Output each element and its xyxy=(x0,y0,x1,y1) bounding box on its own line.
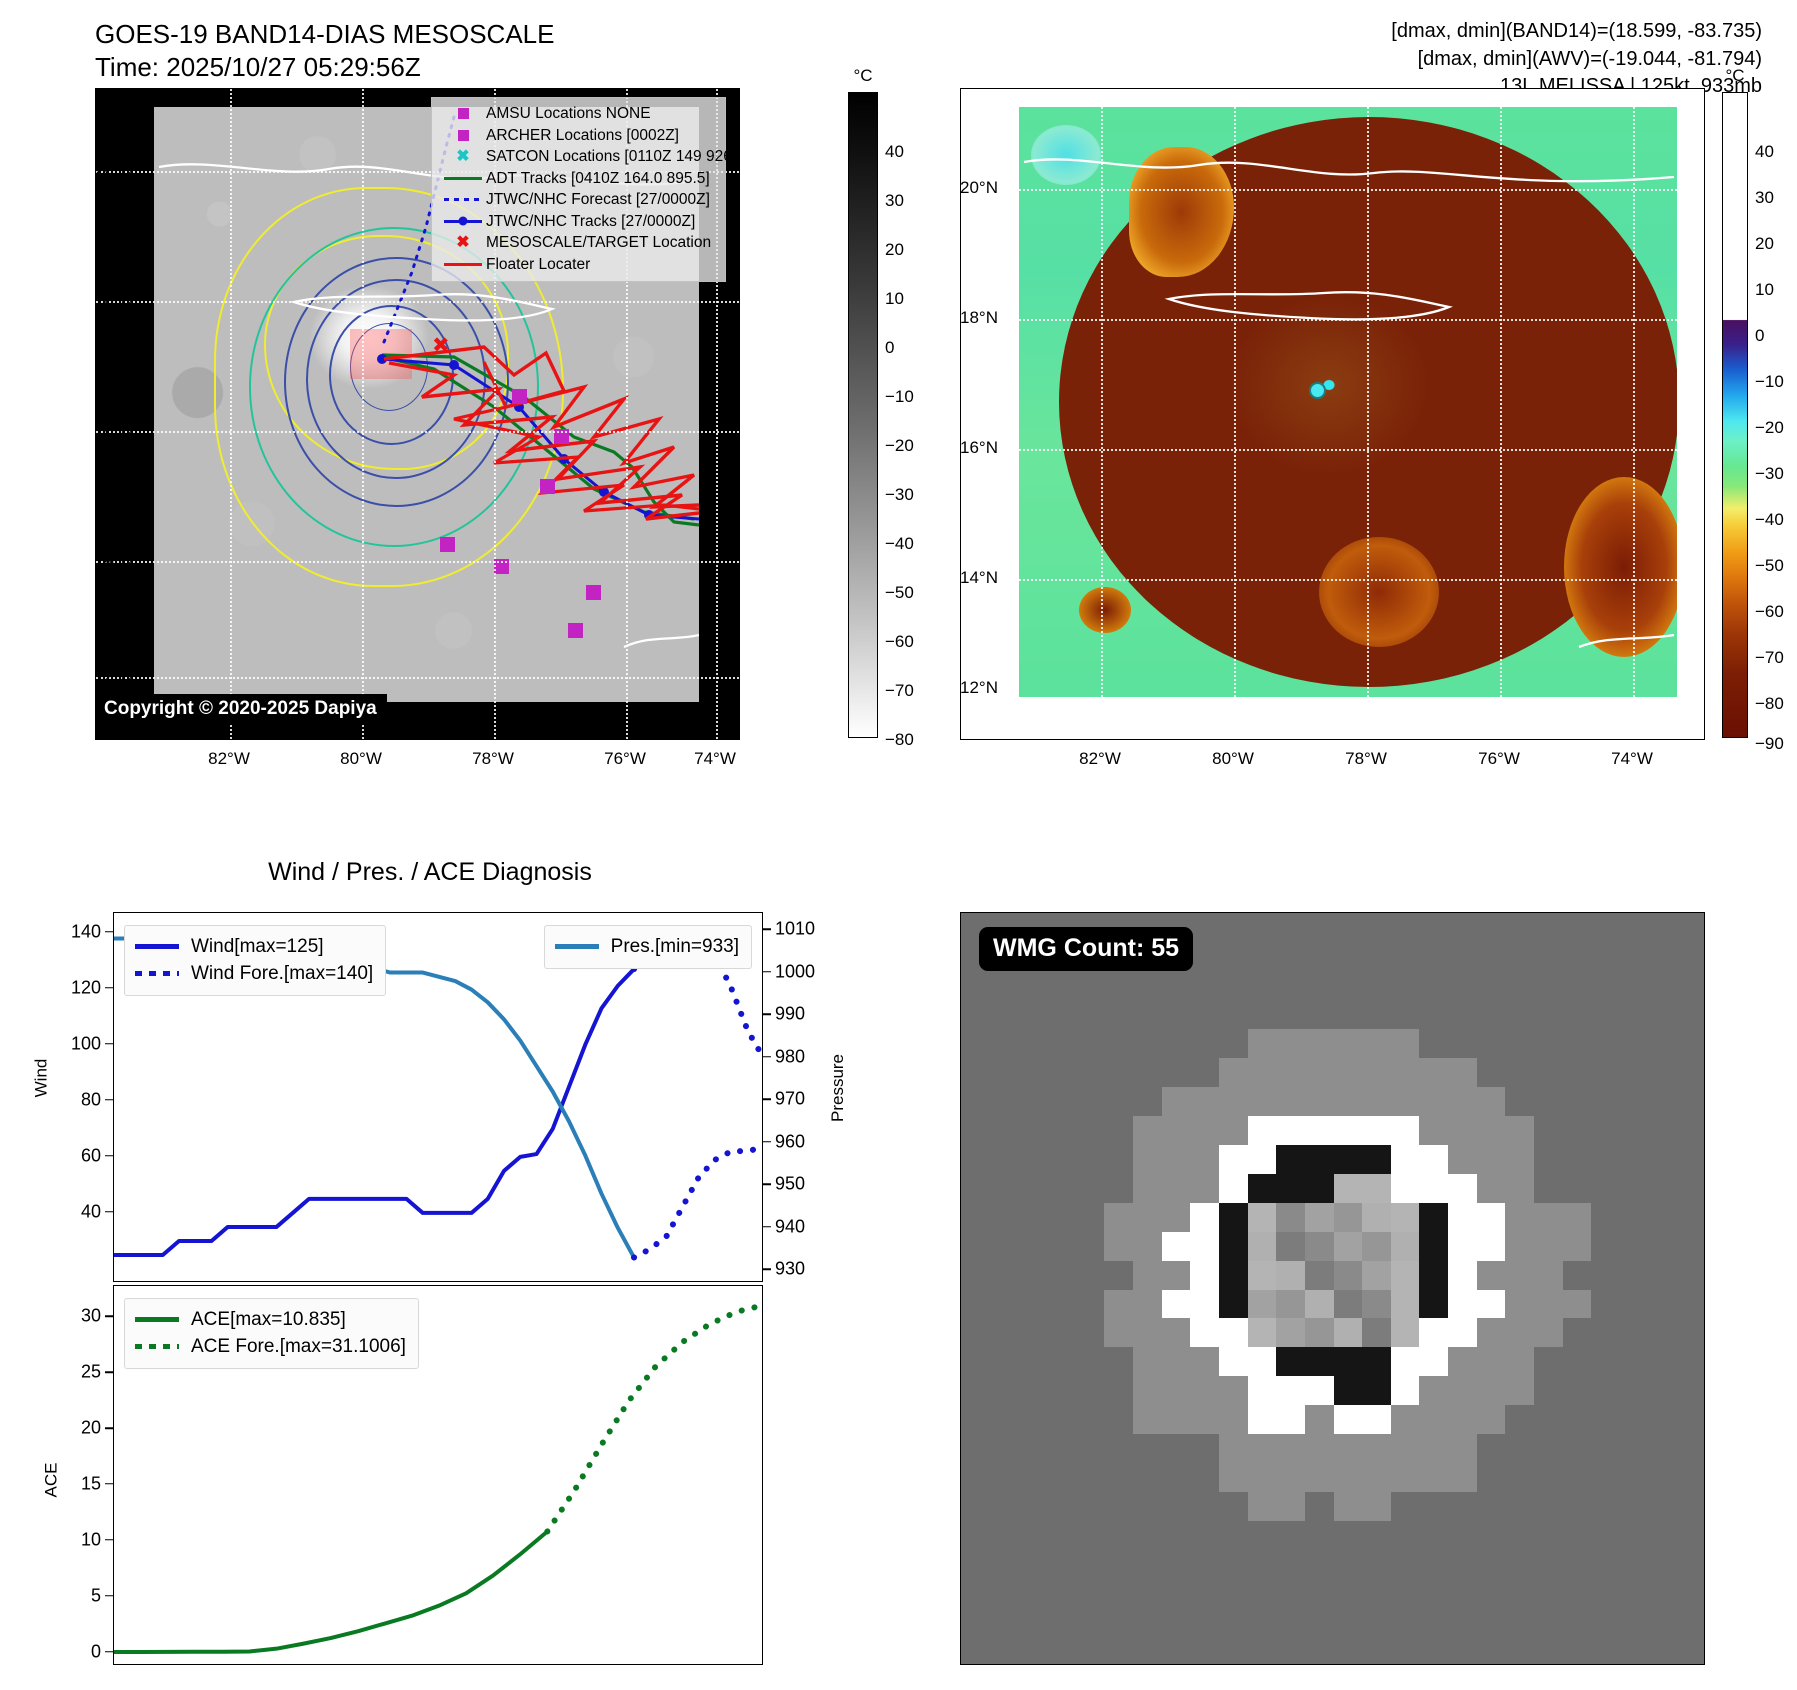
wmg-cell xyxy=(1505,1463,1534,1493)
wmg-cell xyxy=(1419,1087,1448,1117)
wmg-cell xyxy=(1649,1145,1678,1175)
dmax-band14-text: [dmax, dmin](BAND14)=(18.599, -83.735) xyxy=(1391,18,1762,46)
wmg-cell xyxy=(1534,1405,1563,1435)
wv-cbar-tick: −60 xyxy=(1755,602,1784,622)
axis-tick-label: 120 xyxy=(0,977,101,998)
wmg-cell xyxy=(1334,1029,1363,1059)
wmg-panel[interactable]: WMG Count: 55 xyxy=(960,912,1705,1665)
wmg-cell xyxy=(1448,1116,1477,1146)
wmg-cell xyxy=(1190,1376,1219,1406)
wmg-cell xyxy=(1419,1058,1448,1088)
wmg-cell xyxy=(1305,913,1334,943)
wmg-cell xyxy=(1076,1434,1105,1464)
legend-item-adt-tracks[interactable]: ADT Tracks [0410Z 164.0 895.5] xyxy=(440,168,717,190)
wmg-cell xyxy=(1248,1376,1277,1406)
wmg-cell xyxy=(1133,1434,1162,1464)
legend-item-wind-forecast[interactable]: Wind Fore.[max=140] xyxy=(135,960,373,987)
wmg-cell xyxy=(1047,1087,1076,1117)
lon-tick-74W: 74°W xyxy=(694,749,736,769)
wmg-cell xyxy=(1047,1579,1076,1609)
wmg-cell xyxy=(1591,1550,1620,1580)
wmg-cell xyxy=(1362,1116,1391,1146)
wmg-cell xyxy=(1104,1116,1133,1146)
ace-chart[interactable]: ACE[max=10.835] ACE Fore.[max=31.1006] xyxy=(113,1285,763,1665)
wmg-cell xyxy=(1133,1637,1162,1665)
wmg-cell xyxy=(990,1318,1019,1348)
wmg-cell xyxy=(1133,1318,1162,1348)
wmg-cell xyxy=(1649,1318,1678,1348)
wmg-cell xyxy=(961,1347,990,1377)
wmg-cell xyxy=(1591,1029,1620,1059)
wmg-cell xyxy=(1649,1087,1678,1117)
ir-image-axes[interactable]: ✖ AMSU Locations NONE AR xyxy=(95,88,740,740)
wmg-cell xyxy=(1620,1492,1649,1522)
wmg-cell xyxy=(1162,1434,1191,1464)
wmg-cell xyxy=(1219,1232,1248,1262)
wmg-cell xyxy=(961,971,990,1001)
legend-item-archer[interactable]: ARCHER Locations [0002Z] xyxy=(440,125,717,147)
legend-label: Wind Fore.[max=140] xyxy=(191,964,373,984)
wmg-cell xyxy=(1076,1000,1105,1030)
wmg-cell xyxy=(1505,1029,1534,1059)
wmg-cell xyxy=(1276,1492,1305,1522)
wmg-cell xyxy=(1018,1145,1047,1175)
wmg-cell xyxy=(961,1637,990,1665)
wmg-cell xyxy=(1305,1290,1334,1320)
wmg-cell xyxy=(1391,1521,1420,1551)
legend-item-ace-forecast[interactable]: ACE Fore.[max=31.1006] xyxy=(135,1333,406,1360)
wmg-cell xyxy=(1018,971,1047,1001)
wmg-cell xyxy=(1419,1579,1448,1609)
wmg-cell xyxy=(1276,1261,1305,1291)
wmg-cell xyxy=(1448,1232,1477,1262)
wmg-cell xyxy=(1649,1405,1678,1435)
wmg-cell xyxy=(1276,1000,1305,1030)
wmg-cell xyxy=(1104,1261,1133,1291)
wmg-cell xyxy=(1219,1579,1248,1609)
wmg-cell xyxy=(1362,1434,1391,1464)
wmg-cell xyxy=(1505,1000,1534,1030)
wmg-cell xyxy=(1334,1261,1363,1291)
wmg-cell xyxy=(1419,1521,1448,1551)
wmg-cell xyxy=(1362,1261,1391,1291)
wmg-cell xyxy=(1391,1116,1420,1146)
wmg-cell xyxy=(1419,1116,1448,1146)
axis-tick-mark xyxy=(763,1141,771,1143)
legend-label: JTWC/NHC Tracks [27/0000Z] xyxy=(486,214,695,230)
wmg-cell xyxy=(1076,1579,1105,1609)
wv-cbar-tick: −90 xyxy=(1755,734,1784,754)
wmg-cell xyxy=(1591,1261,1620,1291)
wv-cbar-tick: −70 xyxy=(1755,648,1784,668)
wmg-cell xyxy=(1620,1087,1649,1117)
wmg-cell xyxy=(1477,1145,1506,1175)
wmg-cell xyxy=(1362,1000,1391,1030)
legend-item-ace[interactable]: ACE[max=10.835] xyxy=(135,1306,406,1333)
wmg-cell xyxy=(1362,1608,1391,1638)
wmg-cell xyxy=(1591,1174,1620,1204)
wmg-cell xyxy=(1076,1029,1105,1059)
wmg-cell xyxy=(1334,1521,1363,1551)
wmg-cell xyxy=(1047,1261,1076,1291)
wmg-cell xyxy=(1133,1000,1162,1030)
wmg-cell xyxy=(1362,1058,1391,1088)
wmg-cell xyxy=(1563,1203,1592,1233)
wv-panel: 20°N 18°N 16°N 14°N 12°N 82°W 80°W 78°W … xyxy=(960,88,1605,740)
wmg-cell xyxy=(1477,1000,1506,1030)
wv-cbar-tick: −80 xyxy=(1755,694,1784,714)
wmg-cell xyxy=(1534,1318,1563,1348)
wmg-cell xyxy=(1649,1116,1678,1146)
wmg-cell xyxy=(1419,1376,1448,1406)
wv-lon-tick-80W: 80°W xyxy=(1212,749,1254,769)
ace-forecast-dotted-icon xyxy=(135,1344,191,1349)
wmg-cell xyxy=(1505,1521,1534,1551)
ir-colorbar: °C 40 30 20 10 0 −10 −20 −30 −40 −50 −60… xyxy=(848,92,878,738)
wmg-cell xyxy=(1505,1290,1534,1320)
wmg-cell xyxy=(1305,1434,1334,1464)
wmg-cell xyxy=(1162,1116,1191,1146)
wmg-cell xyxy=(1477,1290,1506,1320)
wmg-cell xyxy=(1563,1318,1592,1348)
legend-label: ACE[max=10.835] xyxy=(191,1310,346,1330)
wmg-cell xyxy=(1104,1290,1133,1320)
wmg-cell xyxy=(1018,1608,1047,1638)
lon-tick-78W: 78°W xyxy=(472,749,514,769)
ace-chart-legend: ACE[max=10.835] ACE Fore.[max=31.1006] xyxy=(124,1298,419,1369)
wmg-cell xyxy=(1190,1318,1219,1348)
wmg-cell xyxy=(990,1174,1019,1204)
legend-item-jtwc-tracks[interactable]: JTWC/NHC Tracks [27/0000Z] xyxy=(440,211,717,233)
wmg-cell xyxy=(990,1637,1019,1665)
wmg-cell xyxy=(1448,1492,1477,1522)
gridline-80W xyxy=(362,89,364,739)
wmg-cell xyxy=(1104,1608,1133,1638)
wmg-cell xyxy=(1477,1376,1506,1406)
wmg-cell xyxy=(1104,1521,1133,1551)
wmg-cell xyxy=(1477,1405,1506,1435)
wv-coastline-overlay xyxy=(1019,107,1677,697)
wmg-cell xyxy=(1505,1579,1534,1609)
wmg-cell xyxy=(1391,1608,1420,1638)
axis-tick-label: 980 xyxy=(775,1046,805,1067)
wmg-cell xyxy=(1305,1492,1334,1522)
wmg-cell xyxy=(1419,1608,1448,1638)
wmg-cell xyxy=(1620,1347,1649,1377)
wmg-cell xyxy=(1677,1579,1705,1609)
wmg-cell xyxy=(961,1058,990,1088)
wmg-cell xyxy=(1219,1637,1248,1665)
wmg-cell xyxy=(1591,1521,1620,1551)
floater-line-icon xyxy=(440,263,486,266)
wmg-cell xyxy=(1162,1261,1191,1291)
wmg-cell xyxy=(1477,942,1506,972)
wmg-cell xyxy=(1305,1029,1334,1059)
wv-gridline-80W xyxy=(1234,107,1236,697)
wmg-cell xyxy=(1505,1232,1534,1262)
wind-chart-legend: Wind[max=125] Wind Fore.[max=140] xyxy=(124,925,386,996)
wmg-cell xyxy=(1334,1492,1363,1522)
wmg-cell xyxy=(1563,1261,1592,1291)
wmg-cell xyxy=(1104,1232,1133,1262)
wmg-cell xyxy=(1219,1376,1248,1406)
wmg-cell xyxy=(1362,1174,1391,1204)
wmg-cell xyxy=(1677,1405,1705,1435)
wmg-cell xyxy=(961,1405,990,1435)
wmg-cell xyxy=(1477,971,1506,1001)
wmg-cell xyxy=(1677,1232,1705,1262)
wmg-cell xyxy=(1534,1608,1563,1638)
gridline-14N xyxy=(96,561,739,563)
wmg-cell xyxy=(1076,1376,1105,1406)
wmg-cell xyxy=(1305,1000,1334,1030)
wmg-cell xyxy=(1391,913,1420,943)
wmg-cell xyxy=(1677,913,1705,943)
ir-cbar-tick: −40 xyxy=(885,534,914,554)
wmg-cell xyxy=(1248,1000,1277,1030)
wmg-cell xyxy=(1591,1637,1620,1665)
wmg-cell xyxy=(1104,1579,1133,1609)
axis-tick-label: 140 xyxy=(0,921,101,942)
wmg-cell xyxy=(1419,1463,1448,1493)
jtwc-tracks-line-icon xyxy=(440,220,486,223)
wmg-cell xyxy=(1448,913,1477,943)
wmg-cell xyxy=(1505,1376,1534,1406)
wmg-cell xyxy=(1047,1203,1076,1233)
wmg-cell xyxy=(1018,1174,1047,1204)
wmg-cell xyxy=(1248,942,1277,972)
wmg-cell xyxy=(1276,1203,1305,1233)
wmg-cell xyxy=(1248,1347,1277,1377)
wmg-cell xyxy=(1591,1232,1620,1262)
wmg-cell xyxy=(1591,1347,1620,1377)
wv-satellite-image xyxy=(1019,107,1677,697)
wmg-cell xyxy=(1104,1405,1133,1435)
wmg-cell xyxy=(1162,1058,1191,1088)
wmg-cell xyxy=(1248,1318,1277,1348)
wmg-cell xyxy=(1018,1434,1047,1464)
wmg-cell xyxy=(1534,1376,1563,1406)
wmg-cell xyxy=(1448,971,1477,1001)
wmg-cell xyxy=(1219,1318,1248,1348)
wind-pressure-chart[interactable]: Wind[max=125] Wind Fore.[max=140] Pres.[… xyxy=(113,912,763,1282)
wmg-cell xyxy=(1505,1087,1534,1117)
wmg-cell xyxy=(1649,1029,1678,1059)
axis-tick-label: 60 xyxy=(0,1145,101,1166)
wmg-cell xyxy=(1649,1579,1678,1609)
legend-item-pressure[interactable]: Pres.[min=933] xyxy=(555,933,739,960)
wmg-cell xyxy=(1362,1550,1391,1580)
axis-tick-mark xyxy=(105,1483,113,1485)
ir-map-legend: AMSU Locations NONE ARCHER Locations [00… xyxy=(431,97,726,282)
wmg-cell xyxy=(961,1261,990,1291)
wmg-cell xyxy=(1477,1174,1506,1204)
wmg-cell xyxy=(1047,971,1076,1001)
wv-cbar-tick: 0 xyxy=(1755,326,1764,346)
wmg-cell xyxy=(1448,1000,1477,1030)
wmg-cell xyxy=(1104,1145,1133,1175)
wmg-cell xyxy=(1190,1492,1219,1522)
wmg-cell xyxy=(1477,1087,1506,1117)
wmg-cell xyxy=(961,1290,990,1320)
legend-item-amsu[interactable]: AMSU Locations NONE xyxy=(440,103,717,125)
wmg-cell xyxy=(1334,1116,1363,1146)
wmg-cell xyxy=(1477,1550,1506,1580)
wmg-cell xyxy=(1419,1174,1448,1204)
wmg-cell xyxy=(1133,1261,1162,1291)
wmg-cell xyxy=(1104,1318,1133,1348)
wmg-cell xyxy=(1591,1405,1620,1435)
ace-line-icon xyxy=(135,1317,191,1322)
wmg-cell xyxy=(1677,1318,1705,1348)
legend-item-jtwc-forecast[interactable]: JTWC/NHC Forecast [27/0000Z] xyxy=(440,189,717,211)
wmg-cell xyxy=(990,1261,1019,1291)
wmg-cell xyxy=(1248,971,1277,1001)
wmg-cell xyxy=(1305,942,1334,972)
wmg-cell xyxy=(1391,1434,1420,1464)
archer-square-icon xyxy=(440,130,486,141)
wmg-cell xyxy=(1448,1318,1477,1348)
wmg-cell xyxy=(1104,1347,1133,1377)
wmg-cell xyxy=(1076,1637,1105,1665)
wmg-cell xyxy=(990,1145,1019,1175)
wmg-cell xyxy=(1133,1579,1162,1609)
wmg-cell xyxy=(1076,1058,1105,1088)
wmg-cell xyxy=(990,1376,1019,1406)
axis-tick-label: 940 xyxy=(775,1216,805,1237)
wmg-cell xyxy=(1305,1116,1334,1146)
wmg-cell xyxy=(1305,1087,1334,1117)
wmg-cell xyxy=(1563,1434,1592,1464)
wmg-cell xyxy=(1104,1637,1133,1665)
wmg-cell xyxy=(990,1000,1019,1030)
wmg-cell xyxy=(1563,1463,1592,1493)
wmg-cell xyxy=(1276,1463,1305,1493)
wmg-cell xyxy=(1591,1087,1620,1117)
wmg-cell xyxy=(1276,1376,1305,1406)
axis-tick-mark xyxy=(763,1013,771,1015)
wmg-cell xyxy=(1047,1145,1076,1175)
wmg-cell xyxy=(1362,1290,1391,1320)
wmg-cell xyxy=(1448,1550,1477,1580)
wmg-cell xyxy=(1477,1261,1506,1291)
wv-cbar-tick: −30 xyxy=(1755,464,1784,484)
wmg-cell xyxy=(1391,1261,1420,1291)
wmg-cell xyxy=(1419,1318,1448,1348)
wmg-cell xyxy=(1133,1608,1162,1638)
wmg-cell xyxy=(1620,1550,1649,1580)
wmg-cell xyxy=(1448,1463,1477,1493)
wmg-cell xyxy=(1448,942,1477,972)
wmg-cell xyxy=(1334,1232,1363,1262)
wmg-cell xyxy=(1162,1376,1191,1406)
wmg-cell xyxy=(1649,1434,1678,1464)
wmg-cell xyxy=(1534,1521,1563,1551)
wmg-cell xyxy=(1591,971,1620,1001)
wmg-cell xyxy=(1162,1521,1191,1551)
wmg-cell xyxy=(1649,1521,1678,1551)
wmg-cell xyxy=(1391,942,1420,972)
wmg-cell xyxy=(990,1579,1019,1609)
wmg-cell xyxy=(1076,1492,1105,1522)
wmg-cell xyxy=(1076,1521,1105,1551)
lon-tick-82W: 82°W xyxy=(208,749,250,769)
wmg-cell xyxy=(1620,1290,1649,1320)
legend-item-mesoscale-target[interactable]: ✖ MESOSCALE/TARGET Location xyxy=(440,232,717,254)
wmg-cell xyxy=(961,1203,990,1233)
wmg-cell xyxy=(1190,942,1219,972)
wv-cbar-tick: −20 xyxy=(1755,418,1784,438)
wmg-cell xyxy=(1104,1087,1133,1117)
wmg-cell xyxy=(1334,1579,1363,1609)
wv-lon-tick-74W: 74°W xyxy=(1611,749,1653,769)
wmg-cell xyxy=(1591,1579,1620,1609)
wmg-cell xyxy=(1190,1145,1219,1175)
wv-image-axes[interactable] xyxy=(960,88,1705,740)
legend-item-floater-locater[interactable]: Floater Locater xyxy=(440,254,717,276)
legend-item-satcon[interactable]: ✖ SATCON Locations [0110Z 149 926] xyxy=(440,146,717,168)
wmg-cell xyxy=(990,1405,1019,1435)
header-left: GOES-19 BAND14-DIAS MESOSCALE Time: 2025… xyxy=(95,18,554,85)
wmg-cell xyxy=(1477,1058,1506,1088)
wmg-cell xyxy=(1391,1550,1420,1580)
wmg-cell xyxy=(1219,1000,1248,1030)
wmg-cell xyxy=(1248,1550,1277,1580)
wmg-cell xyxy=(1534,1290,1563,1320)
wmg-cell xyxy=(1047,1347,1076,1377)
wmg-cell xyxy=(1305,1550,1334,1580)
axis-tick-label: 0 xyxy=(0,1641,101,1662)
wmg-cell xyxy=(1018,1347,1047,1377)
wmg-cell xyxy=(1190,1434,1219,1464)
axis-tick-mark xyxy=(105,1316,113,1318)
wmg-cell xyxy=(1248,1637,1277,1665)
wmg-cell xyxy=(1448,1608,1477,1638)
wmg-cell xyxy=(1391,1203,1420,1233)
wmg-cell xyxy=(1305,1203,1334,1233)
axis-tick-label: 960 xyxy=(775,1131,805,1152)
wmg-cell xyxy=(961,1579,990,1609)
axis-tick-mark xyxy=(105,1211,113,1213)
legend-item-wind[interactable]: Wind[max=125] xyxy=(135,933,373,960)
wmg-cell xyxy=(1563,1637,1592,1665)
wmg-cell xyxy=(1162,1405,1191,1435)
wmg-cell xyxy=(1391,1376,1420,1406)
wmg-cell xyxy=(1190,1521,1219,1551)
wmg-cell xyxy=(1276,1579,1305,1609)
wmg-cell xyxy=(1563,1492,1592,1522)
axis-tick-mark xyxy=(105,1371,113,1373)
axis-tick-mark xyxy=(105,1043,113,1045)
wmg-cell xyxy=(1076,1116,1105,1146)
wmg-cell xyxy=(1334,1434,1363,1464)
wmg-cell xyxy=(961,1000,990,1030)
wmg-cell xyxy=(1018,1029,1047,1059)
lon-tick-80W: 80°W xyxy=(340,749,382,769)
wmg-cell xyxy=(1276,1434,1305,1464)
wmg-cell xyxy=(1563,942,1592,972)
wmg-cell xyxy=(1076,1405,1105,1435)
wmg-cell xyxy=(1505,1347,1534,1377)
wmg-cell xyxy=(1219,1434,1248,1464)
wmg-cell xyxy=(1276,913,1305,943)
wmg-cell xyxy=(1391,1637,1420,1665)
wmg-cell xyxy=(1162,1029,1191,1059)
wmg-cell xyxy=(1190,1058,1219,1088)
wmg-cell xyxy=(1419,1029,1448,1059)
wmg-cell xyxy=(1133,1290,1162,1320)
wmg-cell xyxy=(1649,1463,1678,1493)
